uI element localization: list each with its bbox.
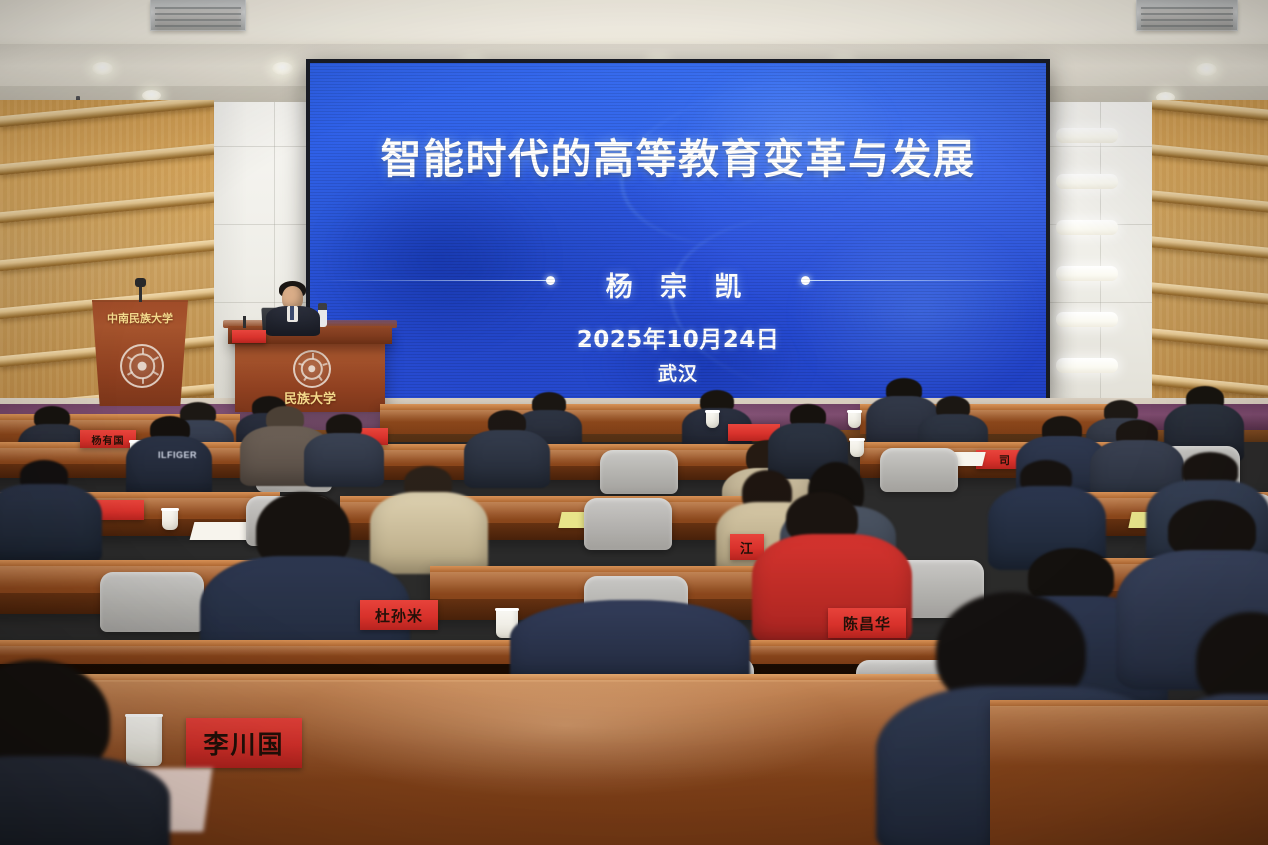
ceiling-vent-icon	[150, 0, 246, 31]
wall-light-strip	[1056, 312, 1118, 327]
wood-slat-wall-right	[1152, 100, 1268, 430]
led-screen: 智能时代的高等教育变革与发展 杨 宗 凯 2025年10月24日 武汉	[306, 59, 1050, 404]
slide-speaker-name: 杨 宗 凯	[310, 265, 1046, 304]
wall-light-strip	[1056, 266, 1118, 281]
paper-cup-foreground	[126, 714, 162, 766]
paper-cup	[850, 438, 864, 457]
downlight-icon	[272, 62, 293, 75]
nameplate: 杜孙米	[360, 600, 438, 630]
slide-city: 武汉	[310, 359, 1046, 386]
slide-rule-right	[810, 280, 1044, 281]
slide-title: 智能时代的高等教育变革与发展	[310, 125, 1046, 185]
chair	[600, 450, 678, 494]
chair	[584, 498, 672, 550]
nameplate-foreground: 李川国	[186, 718, 302, 768]
slide-rule-dot-right	[801, 276, 810, 285]
downlight-icon	[1196, 63, 1217, 76]
nameplate: 杨有国	[80, 430, 136, 448]
paper-sheet	[190, 522, 255, 540]
university-crest-icon	[293, 350, 331, 388]
podium-microphone-head-icon	[135, 278, 146, 287]
wall-light-strip	[1056, 358, 1118, 373]
wall-light-strip	[1056, 174, 1118, 189]
desk-foreground-right	[990, 700, 1268, 845]
speaker-nameplate	[232, 330, 266, 343]
paper-cup	[848, 410, 861, 428]
chair	[880, 448, 958, 492]
wall-light-strip	[1056, 220, 1118, 235]
nameplate: 陈昌华	[828, 608, 906, 638]
lecture-hall-photo: 智能时代的高等教育变革与发展 杨 宗 凯 2025年10月24日 武汉 中南民族…	[0, 0, 1268, 845]
paper-cup	[162, 508, 178, 530]
chair	[100, 572, 204, 632]
university-crest-icon	[120, 344, 164, 388]
wall-light-strip	[1056, 128, 1118, 143]
desk-row5	[0, 640, 980, 664]
desk-row2	[320, 444, 780, 480]
podium-left-label: 中南民族大学	[92, 310, 188, 326]
presentation-slide: 智能时代的高等教育变革与发展 杨 宗 凯 2025年10月24日 武汉	[310, 63, 1046, 400]
podium-left: 中南民族大学	[92, 300, 188, 406]
downlight-icon	[92, 62, 113, 75]
paper-cup	[706, 410, 719, 428]
ceiling-vent-icon	[1136, 0, 1238, 31]
table-microphone-icon	[243, 316, 246, 328]
slide-date: 2025年10月24日	[310, 320, 1046, 354]
